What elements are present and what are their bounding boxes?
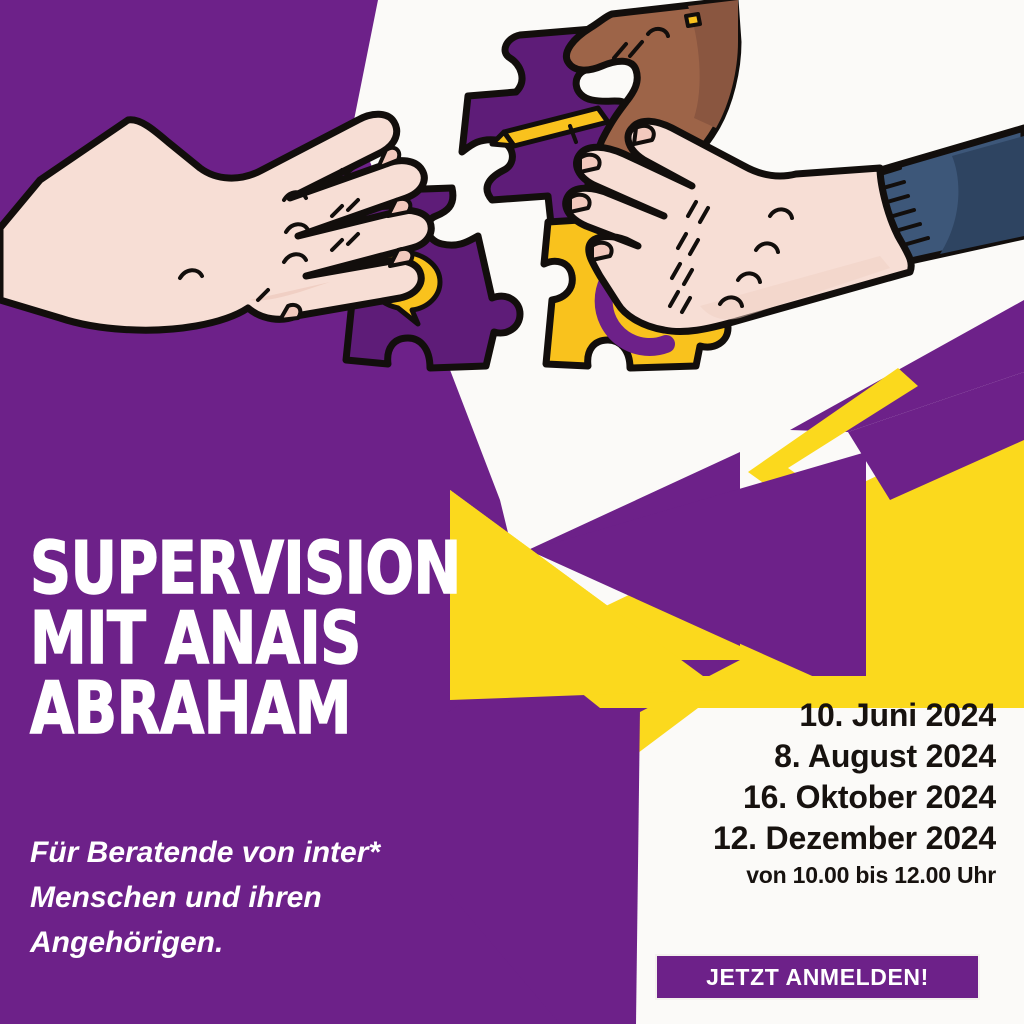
right-hand-light-skin-blue-sleeve <box>566 121 1024 331</box>
page-title: SUPERVISION MIT ANAIS ABRAHAM <box>30 534 400 744</box>
title-line-3: ABRAHAM <box>30 674 400 744</box>
date-item: 8. August 2024 <box>576 736 996 777</box>
subtitle-line-3: Angehörigen. <box>30 920 450 965</box>
date-item: 10. Juni 2024 <box>576 695 996 736</box>
title-line-1: SUPERVISION <box>30 534 400 604</box>
register-button[interactable]: JETZT ANMELDEN! <box>655 954 980 1000</box>
subtitle: Für Beratende von inter* Menschen und ih… <box>30 830 450 965</box>
date-item: 12. Dezember 2024 <box>576 818 996 859</box>
poster-canvas: SUPERVISION MIT ANAIS ABRAHAM Für Berate… <box>0 0 1024 1024</box>
time-range: von 10.00 bis 12.00 Uhr <box>576 859 996 892</box>
title-line-2: MIT ANAIS <box>30 604 400 674</box>
subtitle-line-2: Menschen und ihren <box>30 875 450 920</box>
dates-list: 10. Juni 2024 8. August 2024 16. Oktober… <box>576 695 996 892</box>
left-hand-light-skin <box>0 114 520 368</box>
register-button-label: JETZT ANMELDEN! <box>706 964 929 991</box>
date-item: 16. Oktober 2024 <box>576 777 996 818</box>
subtitle-line-1: Für Beratende von inter* <box>30 830 450 875</box>
